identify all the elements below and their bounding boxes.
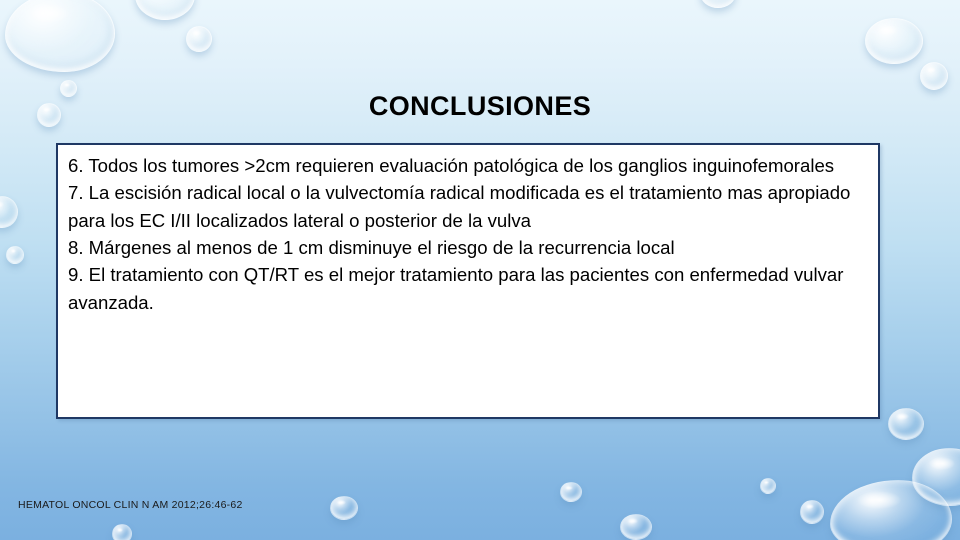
- water-droplet-icon: [135, 0, 195, 20]
- footer-citation: HEMATOL ONCOL CLIN N AM 2012;26:46-62: [18, 499, 243, 511]
- list-item: 8. Márgenes al menos de 1 cm disminuye e…: [68, 234, 868, 261]
- water-droplet-icon: [330, 496, 358, 520]
- slide-canvas: CONCLUSIONES 6. Todos los tumores >2cm r…: [0, 0, 960, 540]
- water-droplet-icon: [620, 514, 652, 540]
- slide-title: CONCLUSIONES: [0, 92, 960, 122]
- water-droplet-icon: [186, 26, 212, 52]
- water-droplet-icon: [830, 480, 952, 540]
- water-droplet-icon: [760, 478, 776, 494]
- water-droplet-icon: [865, 18, 923, 64]
- water-droplet-icon: [0, 196, 18, 228]
- water-droplet-icon: [112, 524, 132, 540]
- water-droplet-icon: [6, 246, 24, 264]
- list-item: 9. El tratamiento con QT/RT es el mejor …: [68, 261, 868, 316]
- water-droplet-icon: [888, 408, 924, 440]
- conclusions-content-box: 6. Todos los tumores >2cm requieren eval…: [56, 143, 880, 419]
- water-droplet-icon: [800, 500, 824, 524]
- conclusions-list: 6. Todos los tumores >2cm requieren eval…: [68, 152, 868, 316]
- water-droplet-icon: [5, 0, 115, 72]
- list-item: 6. Todos los tumores >2cm requieren eval…: [68, 152, 868, 179]
- water-droplet-icon: [560, 482, 582, 502]
- water-droplet-icon: [912, 448, 960, 506]
- water-droplet-icon: [700, 0, 736, 8]
- list-item: 7. La escisión radical local o la vulvec…: [68, 179, 868, 234]
- water-droplet-icon: [920, 62, 948, 90]
